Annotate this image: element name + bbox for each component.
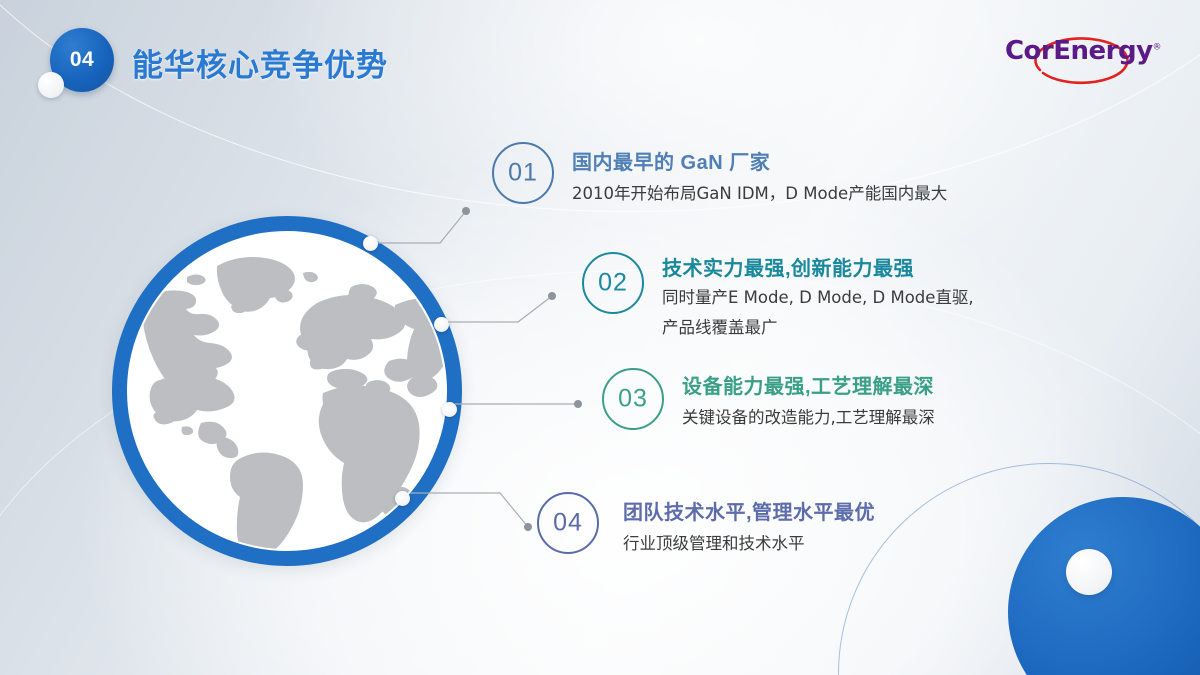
feature-heading-01: 国内最早的 GaN 厂家 xyxy=(572,146,770,175)
feature-detail-04-line-1: 行业顶级管理和技术水平 xyxy=(623,530,805,554)
connector-endpoint-02 xyxy=(548,292,556,300)
badge-accent-dot-icon xyxy=(38,72,64,98)
feature-detail-01-line-1: 2010年开始布局GaN IDM，D Mode产能国内最大 xyxy=(572,180,947,204)
feature-detail-02-line-1: 同时量产E Mode, D Mode, D Mode直驱, xyxy=(662,284,974,308)
feature-number-03: 03 xyxy=(604,385,662,414)
globe-marker-1 xyxy=(363,236,378,251)
logo-wordmark: CorEnergy® xyxy=(988,36,1178,66)
globe-marker-3 xyxy=(442,402,457,417)
slide-number-label: 04 xyxy=(50,48,114,72)
feature-number-02: 02 xyxy=(584,269,642,298)
feature-number-circle-01: 01 xyxy=(492,142,554,204)
connector-02 xyxy=(448,296,552,322)
feature-number-01: 01 xyxy=(494,159,552,188)
logo-wordmark-text: CorEnergy xyxy=(1005,36,1153,66)
feature-detail-03-line-1: 关键设备的改造能力,工艺理解最深 xyxy=(682,404,935,428)
globe-marker-2 xyxy=(434,317,449,332)
feature-number-04: 04 xyxy=(539,509,597,538)
decorative-white-dot xyxy=(1066,549,1112,595)
feature-heading-04: 团队技术水平,管理水平最优 xyxy=(623,496,875,525)
logo-registered-mark: ® xyxy=(1153,42,1162,52)
feature-number-circle-04: 04 xyxy=(537,492,599,554)
feature-heading-03: 设备能力最强,工艺理解最深 xyxy=(682,370,934,399)
connector-endpoint-01 xyxy=(462,207,470,215)
feature-heading-02: 技术实力最强,创新能力最强 xyxy=(662,252,914,281)
feature-number-circle-02: 02 xyxy=(582,252,644,314)
world-globe-graphic xyxy=(112,216,462,566)
page-title: 能华核心竞争优势 xyxy=(132,40,388,85)
connector-endpoint-03 xyxy=(574,400,582,408)
feature-detail-02-line-2: 产品线覆盖最广 xyxy=(662,314,778,338)
corenergy-logo: CorEnergy® xyxy=(988,24,1178,86)
connector-endpoint-04 xyxy=(524,523,532,531)
slide-canvas: 04 能华核心竞争优势 CorEnergy® xyxy=(0,0,1200,675)
feature-number-circle-03: 03 xyxy=(602,368,664,430)
globe-marker-4 xyxy=(395,491,410,506)
